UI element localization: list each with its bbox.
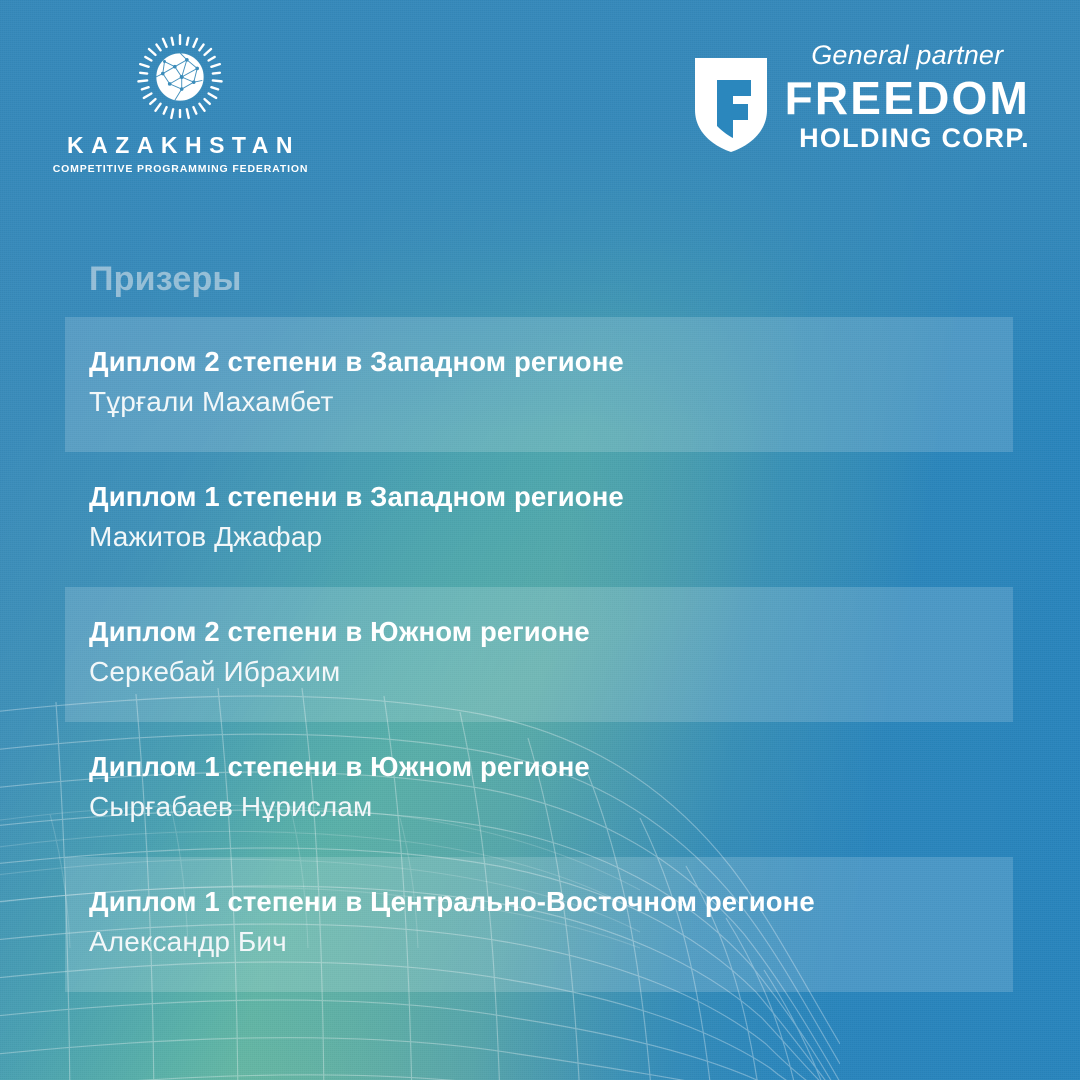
- award-row: Диплом 1 степени в Центрально-Восточном …: [65, 857, 1013, 992]
- award-winner-name: Мажитов Джафар: [89, 521, 989, 553]
- general-partner-logo: General partner FREEDOM HOLDING CORP.: [693, 42, 1030, 154]
- globe-network-icon: [137, 34, 223, 120]
- freedom-wordmark: General partner FREEDOM HOLDING CORP.: [785, 42, 1030, 154]
- federation-subtitle-label: COMPETITIVE PROGRAMMING FEDERATION: [50, 164, 310, 175]
- award-row: Диплом 1 степени в Западном регионеМажит…: [65, 452, 1013, 587]
- award-winner-name: Сырғабаев Нұрислам: [89, 791, 989, 823]
- winners-panel: Призеры Диплом 2 степени в Западном реги…: [65, 262, 1013, 992]
- poster-canvas: KAZAKHSTAN COMPETITIVE PROGRAMMING FEDER…: [0, 0, 1080, 1080]
- award-row: Диплом 2 степени в Западном регионеТұрға…: [65, 317, 1013, 452]
- award-winner-name: Тұрғали Махамбет: [89, 386, 989, 418]
- award-winner-name: Серкебай Ибрахим: [89, 656, 989, 688]
- freedom-brand-label: FREEDOM: [785, 75, 1030, 122]
- page-title: Призеры: [65, 262, 1013, 296]
- award-title: Диплом 1 степени в Южном регионе: [89, 752, 989, 783]
- freedom-shield-icon: [693, 54, 769, 154]
- award-list: Диплом 2 степени в Западном регионеТұрға…: [65, 317, 1013, 992]
- award-row: Диплом 2 степени в Южном регионеСеркебай…: [65, 587, 1013, 722]
- award-row: Диплом 1 степени в Южном регионеСырғабае…: [65, 722, 1013, 857]
- kazakhstan-federation-logo: KAZAKHSTAN COMPETITIVE PROGRAMMING FEDER…: [50, 34, 310, 175]
- award-title: Диплом 1 степени в Центрально-Восточном …: [89, 887, 989, 918]
- award-title: Диплом 1 степени в Западном регионе: [89, 482, 989, 513]
- freedom-brand-suffix-label: HOLDING CORP.: [785, 124, 1030, 154]
- general-partner-eyebrow: General partner: [785, 42, 1030, 69]
- award-title: Диплом 2 степени в Западном регионе: [89, 347, 989, 378]
- federation-country-label: KAZAKHSTAN: [50, 134, 310, 157]
- award-winner-name: Александр Бич: [89, 926, 989, 958]
- award-title: Диплом 2 степени в Южном регионе: [89, 617, 989, 648]
